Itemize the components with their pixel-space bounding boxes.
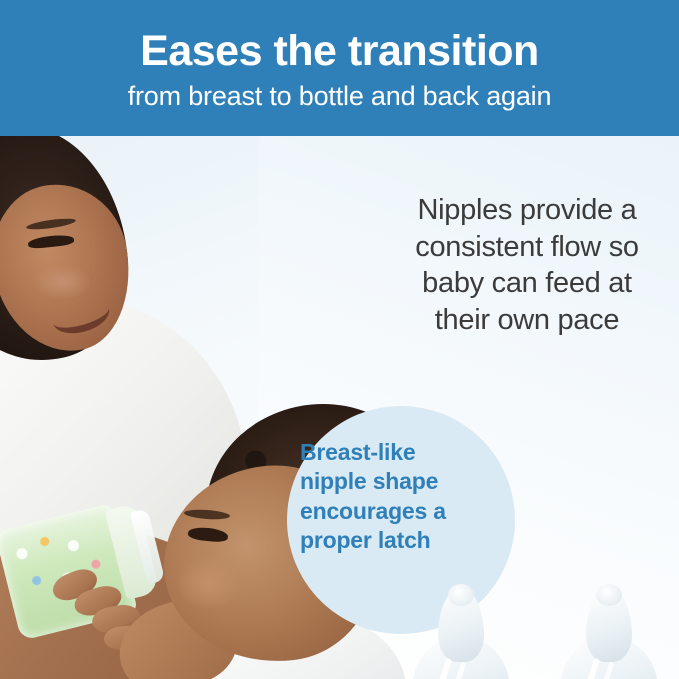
benefit-text: Nipples provide a consistent flow so bab… [392,192,662,338]
product-nipple-right: 1 [534,584,679,679]
nipple-tip [448,584,474,606]
benefit-line-4: their own pace [392,302,662,339]
product-nipple-left: 1 [386,584,536,679]
benefit-line-3: baby can feed at [392,265,662,302]
baby-cheek [176,556,242,610]
page-title: Eases the transition [140,30,539,73]
benefit-line-1: Nipples provide a [392,192,662,229]
header-banner: Eases the transition from breast to bott… [0,0,679,136]
page-subtitle: from breast to bottle and back again [128,82,552,112]
callout-line-2: nipple shape [300,467,480,496]
lifestyle-photo: Nipples provide a consistent flow so bab… [0,136,679,679]
callout-line-1: Breast-like [300,438,480,467]
nipple-tip [596,584,622,606]
mother-cheek [32,264,92,300]
benefit-line-2: consistent flow so [392,229,662,266]
callout-line-4: proper latch [300,526,480,555]
product-ad-image: Eases the transition from breast to bott… [0,0,679,679]
callout-line-3: encourages a [300,497,480,526]
callout-text: Breast-like nipple shape encourages a pr… [300,438,480,556]
